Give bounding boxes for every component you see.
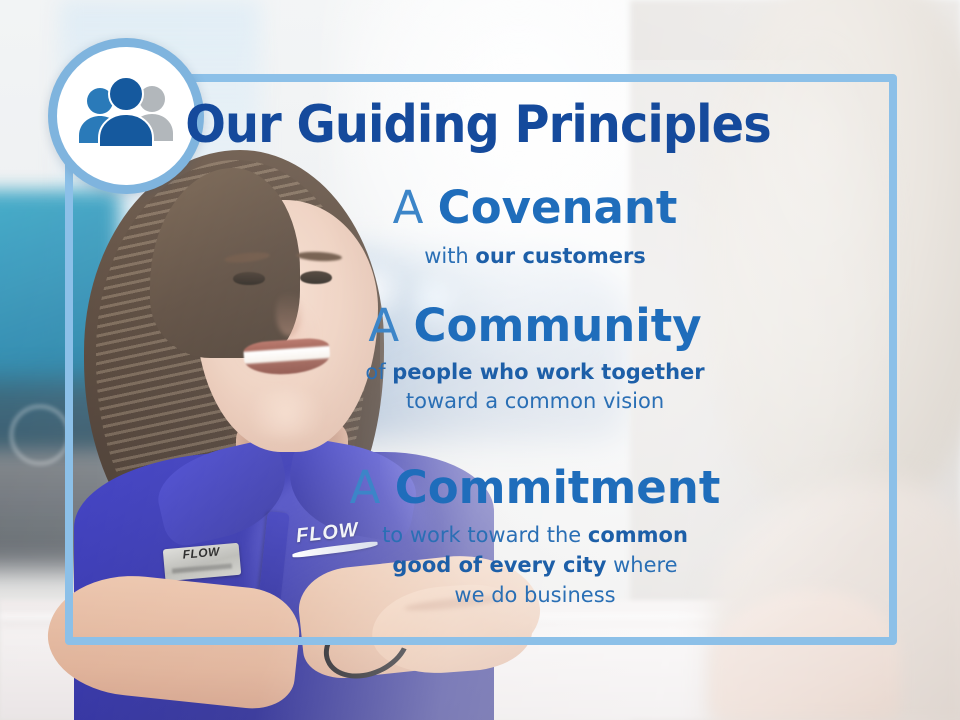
principle-community-heading: A Community [215,300,855,352]
covenant-detail-bold: our customers [475,244,645,268]
commitment-detail-line-3: we do business [215,580,855,610]
principle-commitment-detail: to work toward the common good of every … [215,520,855,610]
commitment-detail-prefix: to work toward the [382,523,588,547]
principle-covenant-heading: A Covenant [215,182,855,234]
banner-text-content: Our Guiding Principles A Covenant with o… [65,74,897,645]
covenant-detail-prefix: with [424,244,475,268]
blurred-vw-logo [10,405,70,465]
principle-covenant-article: A [393,181,424,234]
principle-community-keyword: Community [414,299,702,352]
commitment-detail-bold-1: common [588,523,688,547]
commitment-detail-line-2: good of every city where [215,550,855,580]
community-detail-line-1: of people who work together [215,358,855,387]
commitment-detail-line-1: to work toward the common [215,520,855,550]
community-detail-line-2: toward a common vision [215,387,855,416]
community-detail-bold: people who work together [392,360,704,384]
principle-commitment-article: A [350,461,381,514]
principle-covenant-detail: with our customers [215,242,855,271]
community-detail-prefix: of [365,360,392,384]
banner-canvas: FLOW FLOW [0,0,960,720]
principle-community: A Community of people who work together … [215,300,855,416]
principle-community-article: A [368,299,399,352]
commitment-detail-suffix: where [606,553,677,577]
commitment-detail-bold-2: good of every city [392,553,606,577]
principle-commitment: A Commitment to work toward the common g… [215,462,855,610]
principle-covenant-keyword: Covenant [438,181,678,234]
principle-community-detail: of people who work together toward a com… [215,358,855,416]
page-title: Our Guiding Principles [98,96,858,154]
principle-commitment-keyword: Commitment [395,461,721,514]
principle-covenant: A Covenant with our customers [215,182,855,271]
principle-commitment-heading: A Commitment [215,462,855,514]
